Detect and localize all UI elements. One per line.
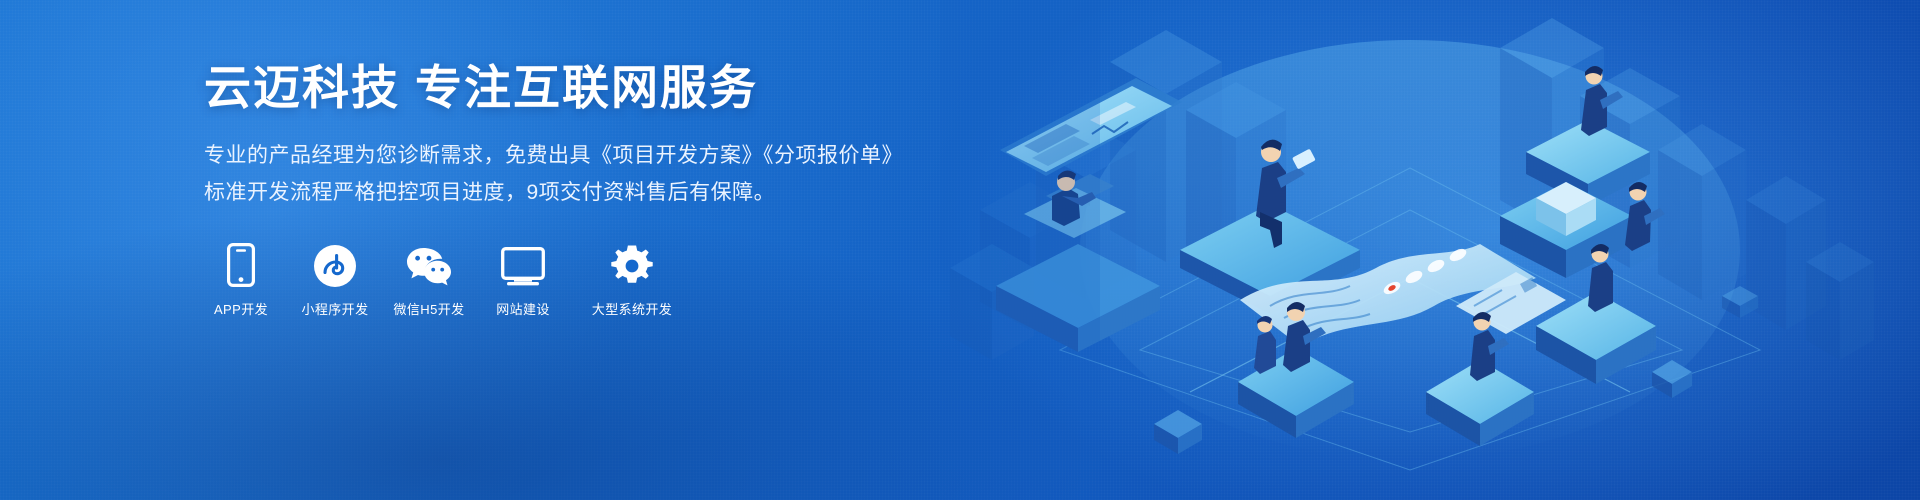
- service-item-website[interactable]: 网站建设: [486, 241, 560, 318]
- mini-program-icon: [298, 241, 372, 287]
- page-title: 云迈科技 专注互联网服务: [204, 60, 964, 116]
- banner-subtitle: 专业的产品经理为您诊断需求，免费出具《项目开发方案》《分项报价单》 标准开发流程…: [204, 138, 964, 210]
- service-item-system[interactable]: 大型系统开发: [580, 241, 684, 318]
- mobile-phone-icon: [204, 241, 278, 287]
- hero-banner: 云迈科技 专注互联网服务 专业的产品经理为您诊断需求，免费出具《项目开发方案》《…: [0, 0, 1920, 500]
- service-label-app: APP开发: [204, 299, 278, 318]
- service-label-miniprogram: 小程序开发: [298, 299, 372, 318]
- subtitle-line-2: 标准开发流程严格把控项目进度，9项交付资料售后有保障。: [204, 175, 964, 211]
- gear-icon: [580, 241, 684, 287]
- service-item-wechat-h5[interactable]: 微信H5开发: [392, 241, 466, 318]
- banner-copy: 云迈科技 专注互联网服务 专业的产品经理为您诊断需求，免费出具《项目开发方案》《…: [204, 60, 964, 318]
- service-list: APP开发 小程序开发: [204, 241, 964, 318]
- service-label-website: 网站建设: [486, 299, 560, 318]
- service-label-wechat-h5: 微信H5开发: [392, 299, 466, 318]
- wechat-icon: [392, 241, 466, 287]
- service-label-system: 大型系统开发: [580, 299, 684, 318]
- subtitle-line-1: 专业的产品经理为您诊断需求，免费出具《项目开发方案》《分项报价单》: [204, 138, 964, 174]
- isometric-illustration: [940, 0, 1920, 500]
- service-item-miniprogram[interactable]: 小程序开发: [298, 241, 372, 318]
- service-item-app[interactable]: APP开发: [204, 241, 278, 318]
- monitor-icon: [486, 241, 560, 287]
